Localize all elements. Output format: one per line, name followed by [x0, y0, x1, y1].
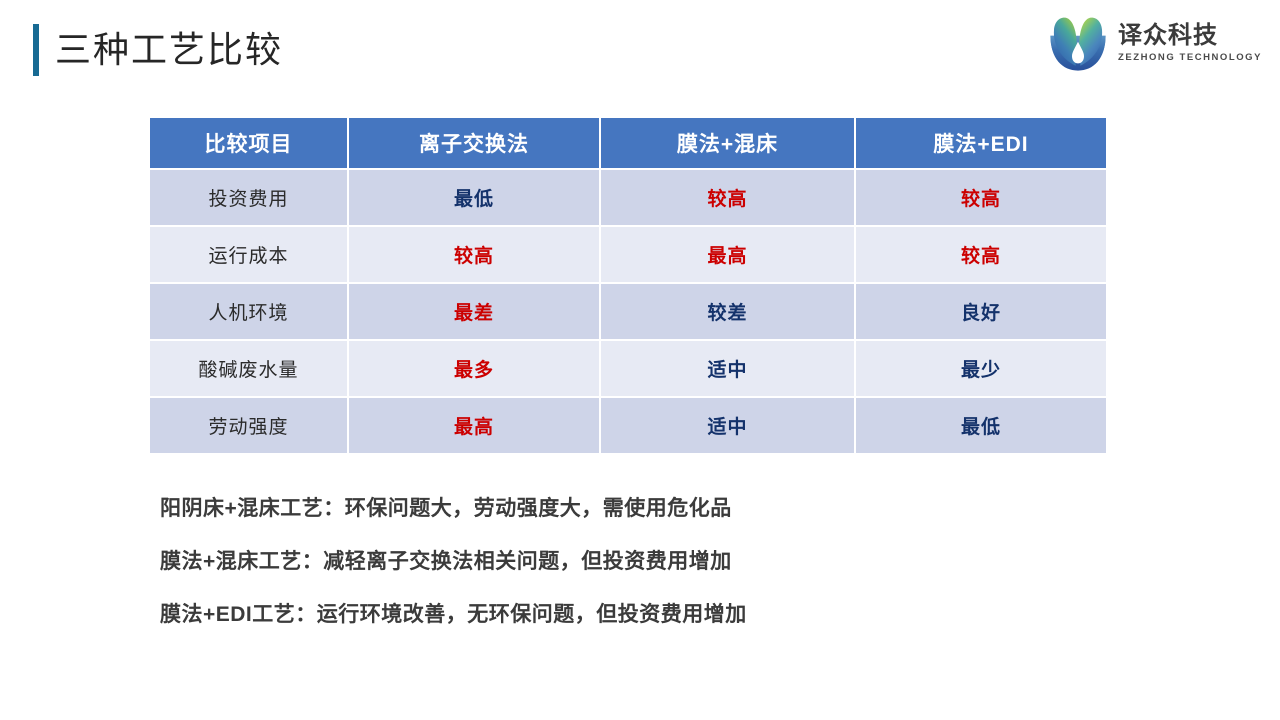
column-header-membrane-mixed: 膜法+混床 — [601, 118, 854, 168]
table-cell-value: 最少 — [856, 341, 1106, 396]
table-cell-value: 最多 — [349, 341, 599, 396]
logo-name-cn: 译众科技 — [1118, 24, 1262, 48]
table-cell-value: 适中 — [601, 341, 854, 396]
summary-note-line: 阳阴床+混床工艺：环保问题大，劳动强度大，需使用危化品 — [160, 492, 747, 522]
column-header-ion-exchange: 离子交换法 — [349, 118, 599, 168]
table-cell-value: 最差 — [349, 284, 599, 339]
title-text: 三种工艺比较 — [55, 24, 283, 76]
table-cell-value: 较高 — [856, 170, 1106, 225]
table-row: 人机环境最差较差良好 — [150, 284, 1106, 339]
table-body: 投资费用最低较高较高运行成本较高最高较高人机环境最差较差良好酸碱废水量最多适中最… — [150, 170, 1106, 453]
table-cell-value: 适中 — [601, 398, 854, 453]
company-logo: 译众科技 ZEZHONG TECHNOLOGY — [1048, 14, 1262, 72]
summary-notes: 阳阴床+混床工艺：环保问题大，劳动强度大，需使用危化品膜法+混床工艺：减轻离子交… — [160, 492, 747, 628]
table-cell-value: 最低 — [856, 398, 1106, 453]
table-cell-value: 较高 — [349, 227, 599, 282]
column-header-membrane-edi: 膜法+EDI — [856, 118, 1106, 168]
page-title: 三种工艺比较 — [33, 24, 283, 76]
slide-canvas: 三种工艺比较 — [0, 0, 1280, 720]
row-label: 人机环境 — [150, 284, 347, 339]
table-cell-value: 较差 — [601, 284, 854, 339]
summary-note-line: 膜法+混床工艺：减轻离子交换法相关问题，但投资费用增加 — [160, 545, 747, 575]
comparison-table: 比较项目 离子交换法 膜法+混床 膜法+EDI 投资费用最低较高较高运行成本较高… — [148, 116, 1108, 455]
title-accent-bar — [33, 24, 39, 76]
row-label: 投资费用 — [150, 170, 347, 225]
table-cell-value: 最低 — [349, 170, 599, 225]
row-label: 运行成本 — [150, 227, 347, 282]
leaf-droplet-icon — [1048, 14, 1108, 72]
logo-wordmark: 译众科技 ZEZHONG TECHNOLOGY — [1118, 24, 1262, 63]
table-row: 运行成本较高最高较高 — [150, 227, 1106, 282]
table-cell-value: 最高 — [601, 227, 854, 282]
summary-note-line: 膜法+EDI工艺：运行环境改善，无环保问题，但投资费用增加 — [160, 598, 747, 628]
table-row: 劳动强度最高适中最低 — [150, 398, 1106, 453]
table-cell-value: 良好 — [856, 284, 1106, 339]
table-cell-value: 较高 — [856, 227, 1106, 282]
table-row: 酸碱废水量最多适中最少 — [150, 341, 1106, 396]
row-label: 劳动强度 — [150, 398, 347, 453]
logo-name-en: ZEZHONG TECHNOLOGY — [1118, 53, 1262, 63]
column-header-criteria: 比较项目 — [150, 118, 347, 168]
table-row: 投资费用最低较高较高 — [150, 170, 1106, 225]
row-label: 酸碱废水量 — [150, 341, 347, 396]
table-cell-value: 较高 — [601, 170, 854, 225]
table-header: 比较项目 离子交换法 膜法+混床 膜法+EDI — [150, 118, 1106, 168]
table-header-row: 比较项目 离子交换法 膜法+混床 膜法+EDI — [150, 118, 1106, 168]
table-cell-value: 最高 — [349, 398, 599, 453]
